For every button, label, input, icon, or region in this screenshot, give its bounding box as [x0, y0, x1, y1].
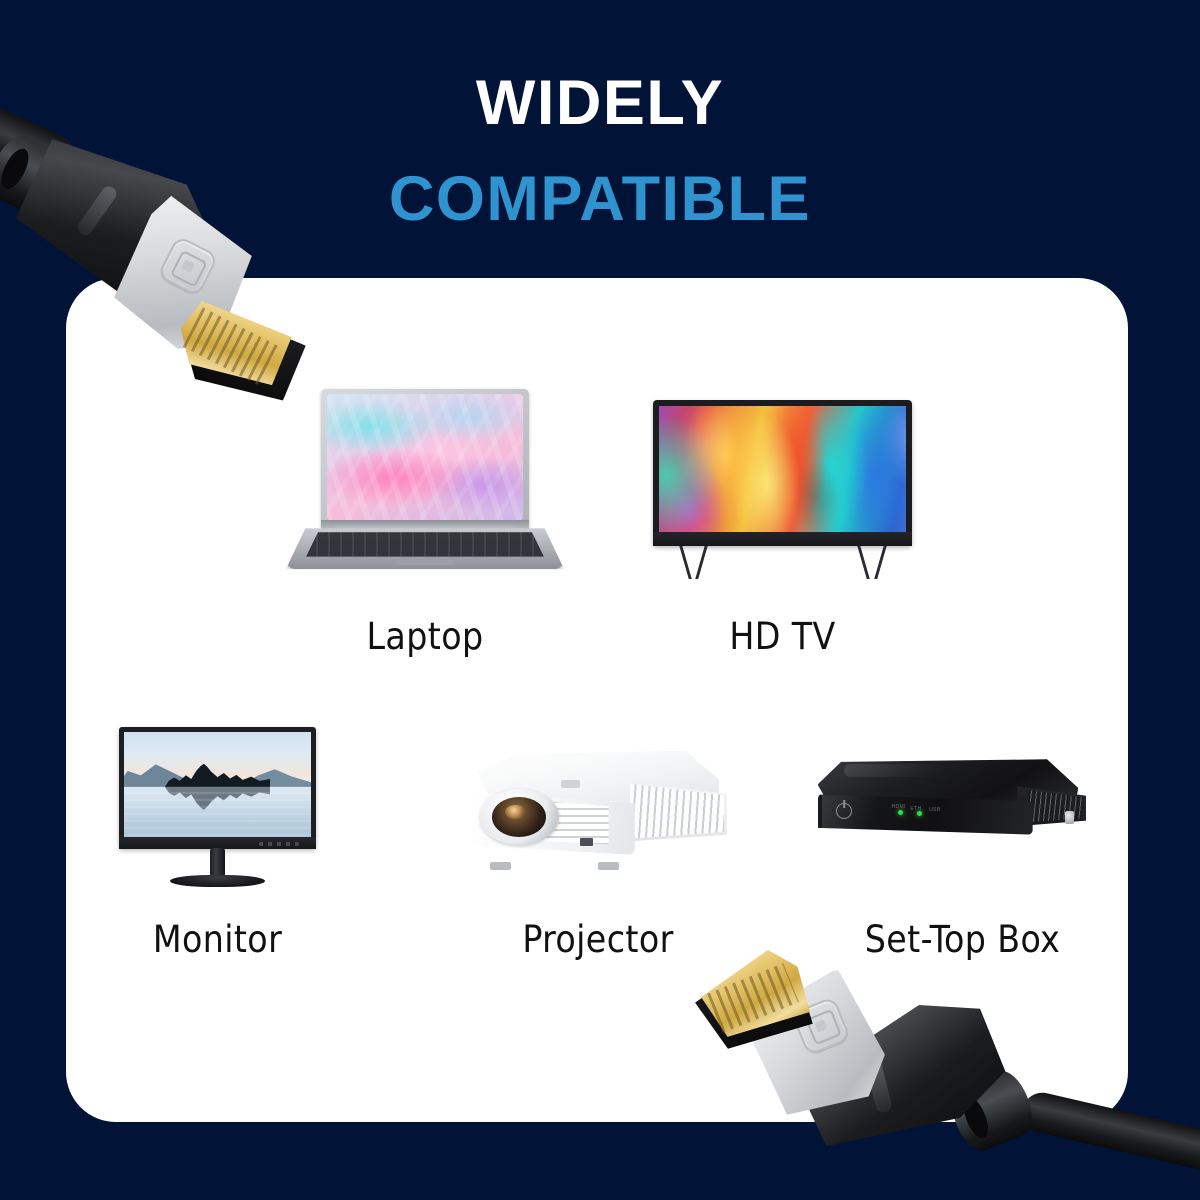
laptop-keyboard [306, 532, 544, 556]
hdtv-illustration [645, 392, 920, 584]
monitor-control-buttons[interactable] [259, 842, 299, 846]
device-label-laptop: Laptop [280, 615, 570, 658]
projector-foot-right [598, 862, 619, 870]
device-label-hdtv: HD TV [645, 615, 920, 658]
hdtv-leg-left-inner [695, 546, 707, 579]
set-top-box-illustration: HDMI ETH USB [812, 735, 1092, 870]
laptop-touchpad [396, 560, 454, 566]
status-led-2 [917, 811, 922, 816]
monitor-frame [119, 727, 317, 849]
monitor-illustration [110, 722, 325, 892]
hdtv-chin [653, 532, 912, 546]
projector-focus-knob[interactable] [561, 780, 579, 788]
monitor-stand-base [170, 875, 265, 887]
set-top-box-side-button[interactable] [1065, 811, 1074, 824]
hdtv-leg-right-inner [857, 546, 869, 579]
hdmi-connector-bottom-right [690, 955, 1200, 1200]
projector-lens-bezel [480, 789, 559, 844]
hdtv-frame [653, 400, 912, 546]
device-label-monitor: Monitor [85, 918, 350, 961]
device-projector [458, 735, 738, 890]
hdmi-cable [1018, 1089, 1200, 1177]
set-top-box-port-label-3: USB [929, 807, 940, 813]
monitor-wallpaper-ripples [124, 787, 312, 838]
hdtv-screen [659, 406, 906, 532]
monitor-stand-neck [210, 848, 225, 877]
device-monitor [110, 722, 325, 892]
hdtv-leg-left [679, 546, 691, 579]
projector-lens [492, 797, 546, 837]
projector-port [580, 838, 593, 846]
monitor-wallpaper-water [124, 787, 312, 838]
device-hdtv [645, 392, 920, 584]
hdtv-screen-artwork [659, 406, 906, 532]
status-led-1 [898, 810, 903, 815]
monitor-screen [124, 732, 312, 837]
hdtv-leg-right [874, 546, 886, 579]
infographic-canvas: WIDELY COMPATIBLE Laptop [0, 0, 1200, 1200]
hdmi-connector-top-left [0, 95, 360, 445]
device-set-top-box: HDMI ETH USB [812, 735, 1092, 870]
projector-foot-left [490, 862, 511, 870]
projector-illustration [458, 735, 738, 890]
